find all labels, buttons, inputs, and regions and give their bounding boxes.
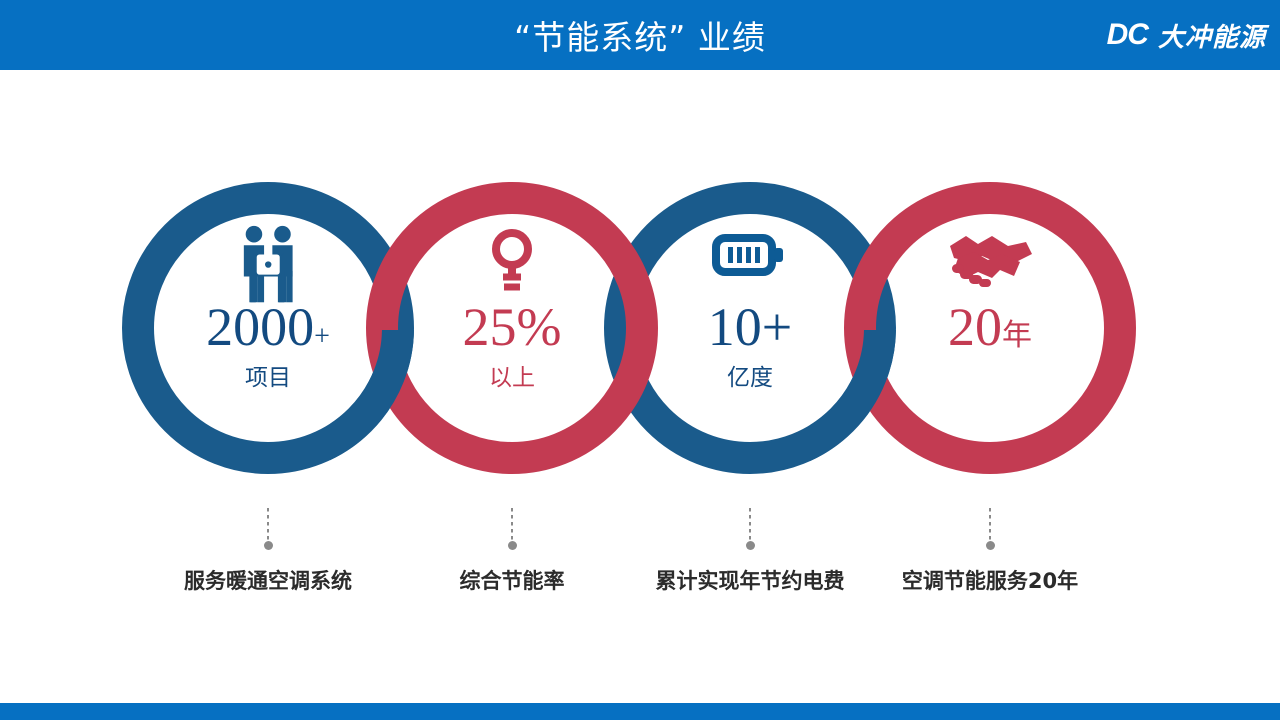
- ring-circle-4: [860, 198, 1120, 458]
- connector-dash-2: [511, 508, 513, 540]
- connector-knob-4: [986, 541, 995, 550]
- battery-icon: [716, 238, 783, 272]
- connector-knob-3: [746, 541, 755, 550]
- interlocking-rings-svg: [0, 0, 1280, 720]
- connector-4: [989, 508, 991, 550]
- footer-bar: [0, 703, 1280, 720]
- connector-dash-3: [749, 508, 751, 540]
- stats-rings-group: [0, 0, 1280, 720]
- connector-dash-4: [989, 508, 991, 540]
- connector-knob-1: [264, 541, 273, 550]
- connector-knob-2: [508, 541, 517, 550]
- connector-dash-1: [267, 508, 269, 540]
- connector-2: [511, 508, 513, 550]
- two-people-icon: [244, 226, 293, 302]
- connector-1: [267, 508, 269, 550]
- stat-caption-4: 空调节能服务20年: [840, 565, 1140, 595]
- lightbulb-icon: [496, 233, 528, 287]
- handshake-icon: [950, 236, 1032, 287]
- connector-3: [749, 508, 751, 550]
